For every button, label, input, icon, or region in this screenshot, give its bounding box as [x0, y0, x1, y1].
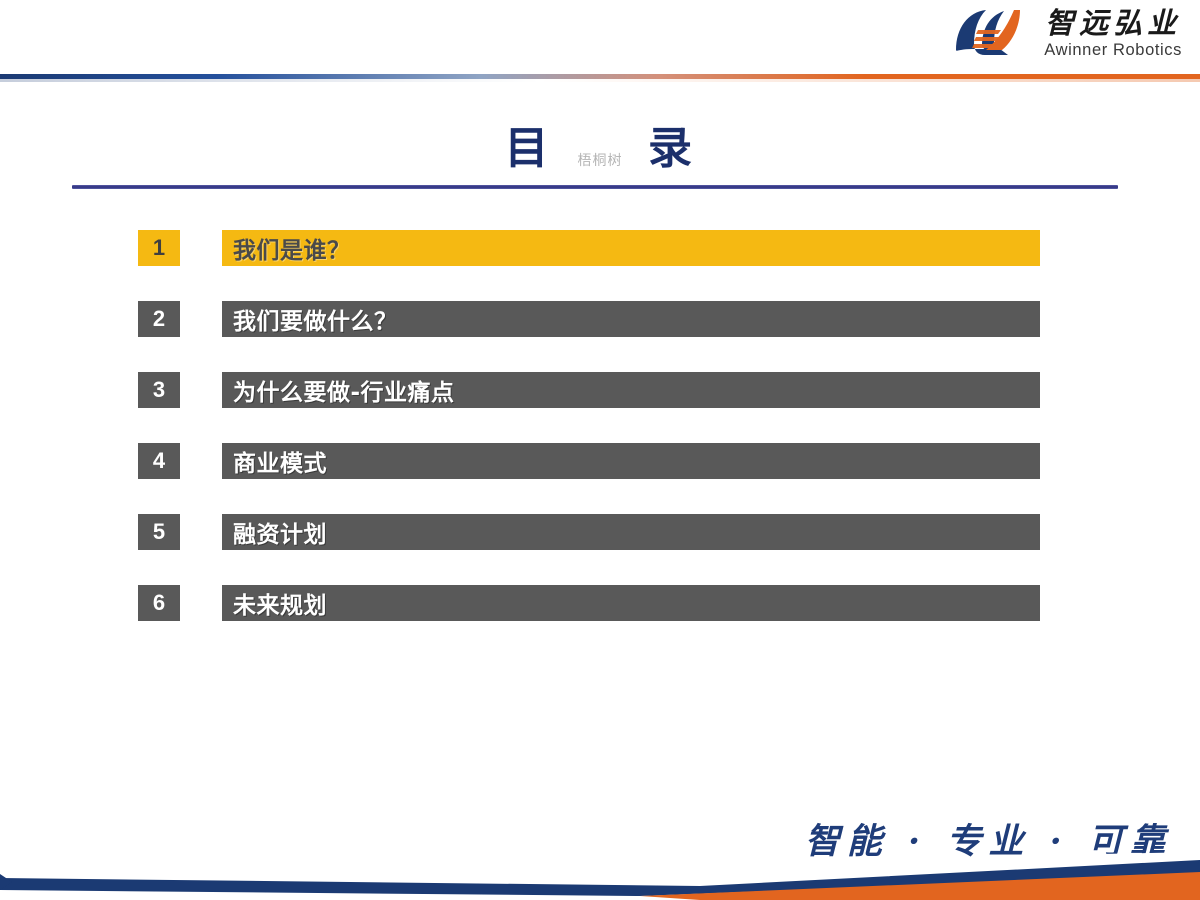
toc-item-label-3: 为什么要做-行业痛点 — [222, 373, 455, 407]
toc-list: 1我们是谁？2我们要做什么？3为什么要做-行业痛点4商业模式5融资计划6未来规划 — [0, 230, 1200, 656]
toc-item-label-6: 未来规划 — [222, 586, 327, 620]
page-title-left: 目 — [504, 123, 552, 174]
slide-title-zone: 梧桐树 目录 — [0, 112, 1200, 182]
header-gradient-rule-shadow — [0, 79, 1200, 82]
toc-row[interactable]: 5融资计划 — [0, 514, 1200, 585]
toc-item-number-1[interactable]: 1 — [138, 230, 180, 266]
toc-item-number-4[interactable]: 4 — [138, 443, 180, 479]
toc-item-number-6[interactable]: 6 — [138, 585, 180, 621]
page-title: 目录 — [0, 112, 1200, 176]
toc-item-label-4: 商业模式 — [222, 444, 327, 478]
toc-item-bar-1[interactable]: 我们是谁？ — [222, 230, 1040, 266]
brand-name-cn: 智远弘业 — [1045, 9, 1181, 38]
toc-row[interactable]: 1我们是谁？ — [0, 230, 1200, 301]
toc-item-number-3[interactable]: 3 — [138, 372, 180, 408]
toc-item-bar-2[interactable]: 我们要做什么？ — [222, 301, 1040, 337]
toc-item-bar-4[interactable]: 商业模式 — [222, 443, 1040, 479]
toc-item-bar-5[interactable]: 融资计划 — [222, 514, 1040, 550]
page-title-right: 录 — [648, 123, 696, 174]
title-underline-rule — [72, 185, 1118, 189]
toc-item-bar-3[interactable]: 为什么要做-行业痛点 — [222, 372, 1040, 408]
toc-item-number-5[interactable]: 5 — [138, 514, 180, 550]
toc-row[interactable]: 6未来规划 — [0, 585, 1200, 656]
toc-row[interactable]: 4商业模式 — [0, 443, 1200, 514]
toc-item-label-1: 我们是谁？ — [222, 231, 351, 265]
toc-row[interactable]: 3为什么要做-行业痛点 — [0, 372, 1200, 443]
toc-item-number-2[interactable]: 2 — [138, 301, 180, 337]
brand-logo: 智远弘业 Awinner Robotics — [952, 6, 1182, 62]
toc-item-label-2: 我们要做什么？ — [222, 302, 398, 336]
footer-decoration — [0, 830, 1200, 900]
awinner-swoosh-logo-icon — [952, 6, 1034, 62]
brand-name-en: Awinner Robotics — [1044, 42, 1182, 59]
toc-item-bar-6[interactable]: 未来规划 — [222, 585, 1040, 621]
slide-header: 智远弘业 Awinner Robotics — [0, 0, 1200, 78]
toc-row[interactable]: 2我们要做什么？ — [0, 301, 1200, 372]
toc-item-label-5: 融资计划 — [222, 515, 327, 549]
